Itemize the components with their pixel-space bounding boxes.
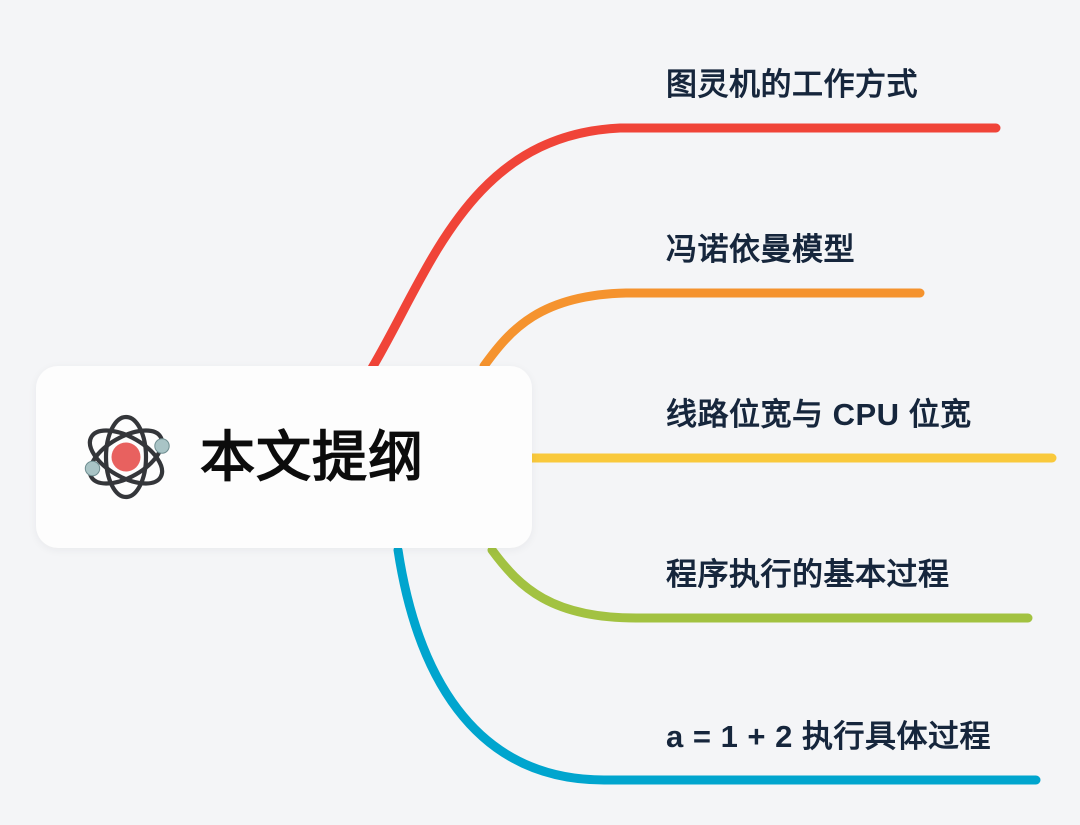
topic-5-label: a = 1 + 2 执行具体过程	[666, 719, 991, 754]
topic-4[interactable]: 程序执行的基本过程	[666, 556, 950, 594]
atom-icon	[74, 405, 178, 509]
topic-1-label: 图灵机的工作方式	[666, 67, 918, 102]
atom-electron-right	[155, 439, 169, 453]
topic-1[interactable]: 图灵机的工作方式	[666, 66, 918, 104]
atom-nucleus	[112, 443, 141, 472]
topic-2[interactable]: 冯诺依曼模型	[666, 231, 855, 269]
atom-electron-left	[85, 461, 99, 475]
topic-3[interactable]: 线路位宽与 CPU 位宽	[666, 396, 972, 434]
mindmap-canvas: 本文提纲 图灵机的工作方式 冯诺依曼模型 线路位宽与 CPU 位宽 程序执行的基…	[0, 0, 1080, 825]
center-node[interactable]: 本文提纲	[36, 366, 532, 548]
branch-line-2	[484, 293, 920, 366]
center-node-title: 本文提纲	[200, 430, 424, 485]
topic-5[interactable]: a = 1 + 2 执行具体过程	[666, 718, 991, 756]
topic-2-label: 冯诺依曼模型	[666, 232, 855, 267]
topic-3-label: 线路位宽与 CPU 位宽	[666, 397, 972, 432]
topic-4-label: 程序执行的基本过程	[666, 557, 950, 592]
